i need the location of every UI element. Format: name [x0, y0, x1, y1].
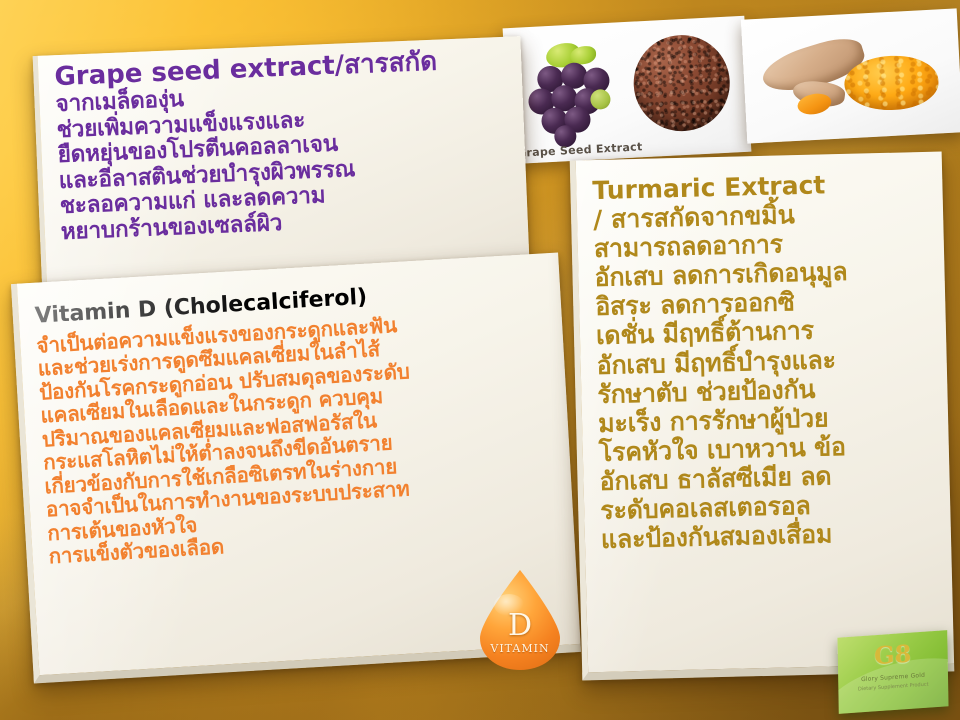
turmeric-photo [741, 8, 960, 143]
vitamin-d-droplet-icon: D VITAMIN [476, 568, 564, 672]
droplet-letter: D [476, 608, 564, 643]
card-turmeric-body: Turmaric Extract / สารสกัดจากขมิ้น สามาร… [576, 152, 952, 563]
card-vitamin-d-body: จำเป็นต่อความแข็งแรงของกระดูกและฟัน และช… [17, 253, 575, 578]
card-turmeric-extract: Turmaric Extract / สารสกัดจากขมิ้น สามาร… [570, 152, 955, 681]
product-box-image: G8 Glory Supreme Gold Dietary Supplement… [837, 630, 948, 714]
grape-seeds-icon [631, 33, 732, 134]
supplement-info-poster: Grape Seed Extract Grape seed extract/สา… [0, 0, 960, 720]
grape-photo-caption: Grape Seed Extract [517, 140, 643, 160]
grapes-icon [518, 40, 633, 142]
product-logo: G8 [838, 636, 948, 673]
grape-seed-photo: Grape Seed Extract [503, 16, 752, 164]
droplet-label: VITAMIN [476, 642, 564, 655]
card-grape-body: Grape seed extract/สารสกัด จากเมล็ดองุ่น… [38, 36, 529, 254]
